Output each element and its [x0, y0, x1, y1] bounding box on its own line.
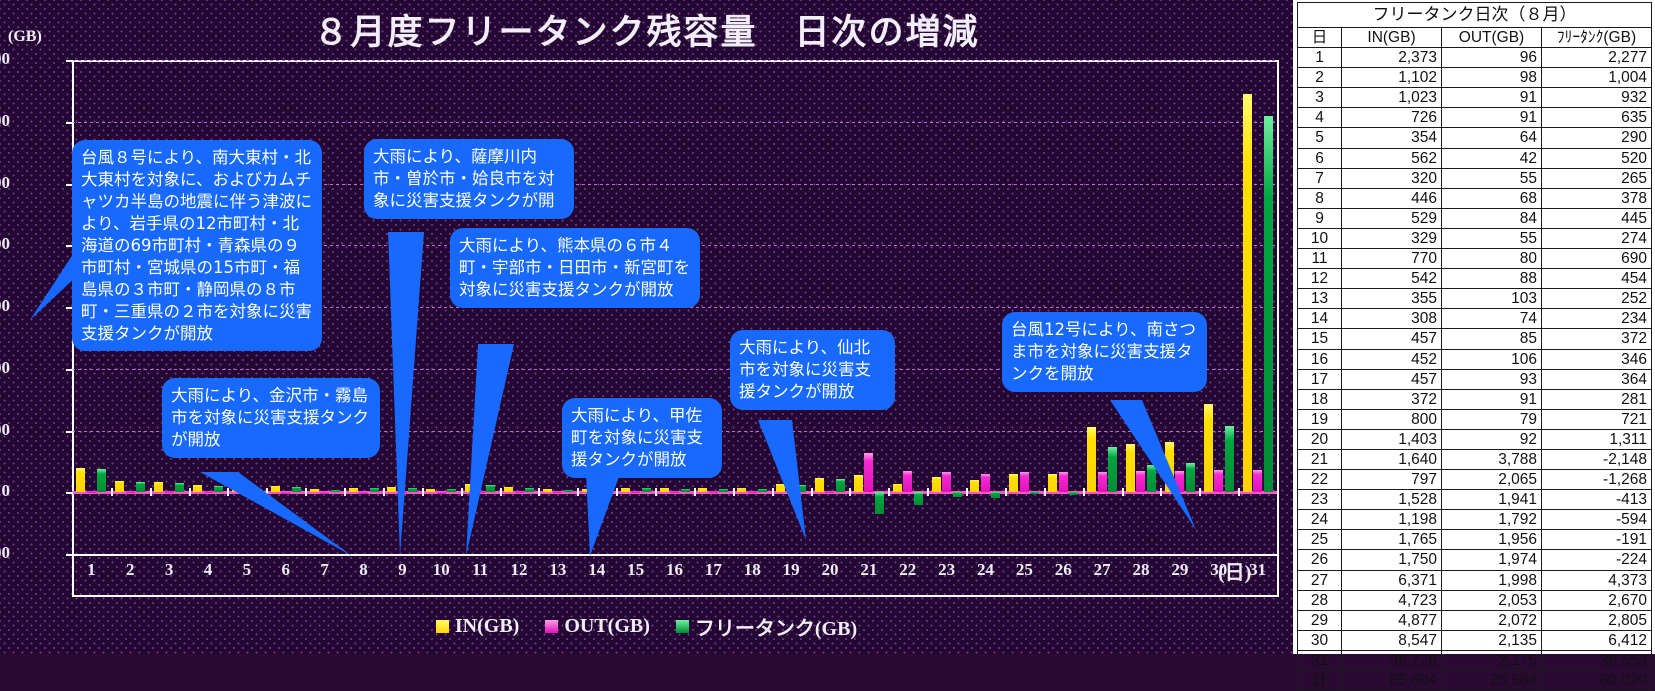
cell-out: 103 — [1442, 289, 1542, 309]
cell-in: 2,373 — [1342, 48, 1442, 68]
cell-day: 14 — [1298, 309, 1342, 329]
cell-out: 91 — [1442, 108, 1542, 128]
table-header-0: 日 — [1298, 28, 1342, 48]
cell-day: 3 — [1298, 88, 1342, 108]
cell-day: 9 — [1298, 208, 1342, 228]
callout-c3[interactable]: 大雨により、薩摩川内市・曽於市・姶良市を対象に災害支援タンクが開 — [364, 139, 574, 219]
cell-out: 85 — [1442, 329, 1542, 349]
cell-day: 16 — [1298, 349, 1342, 369]
cell-out: 84 — [1442, 208, 1542, 228]
cell-in: 6,371 — [1342, 570, 1442, 590]
cell-in: 320 — [1342, 168, 1442, 188]
cell-freetank: -1,268 — [1542, 470, 1652, 490]
table-row: 3138,7282,17536,553 — [1298, 650, 1652, 670]
cell-day: 10 — [1298, 228, 1342, 248]
cell-in: 797 — [1342, 470, 1442, 490]
cell-out: 106 — [1442, 349, 1542, 369]
cell-freetank: -413 — [1542, 490, 1652, 510]
callout-c4[interactable]: 大雨により、熊本県の６市４町・宇部市・日田市・新宮町を対象に災害支援タンクが開放 — [450, 228, 700, 308]
cell-day: 25 — [1298, 530, 1342, 550]
cell-day: 20 — [1298, 429, 1342, 449]
callout-c6[interactable]: 大雨により、仙北市を対象に災害支援タンクが開放 — [730, 330, 895, 410]
callout-tail-c5 — [586, 474, 620, 556]
cell-day: 31 — [1298, 650, 1342, 670]
cell-day: 11 — [1298, 249, 1342, 269]
table-row: 261,7501,974-224 — [1298, 550, 1652, 570]
cell-out: 1,792 — [1442, 510, 1542, 530]
table-row: 16452106346 — [1298, 349, 1652, 369]
cell-in: 457 — [1342, 369, 1442, 389]
cell-day: 15 — [1298, 329, 1342, 349]
cell-day: 13 — [1298, 289, 1342, 309]
table-row: 241,1981,792-594 — [1298, 510, 1652, 530]
table-row: 13355103252 — [1298, 289, 1652, 309]
cell-freetank: 2,670 — [1542, 590, 1652, 610]
cell-in: 562 — [1342, 148, 1442, 168]
callout-c2[interactable]: 大雨により、金沢市・霧島市を対象に災害支援タンクが開放 — [162, 378, 380, 458]
table-row: 656242520 — [1298, 148, 1652, 168]
cell-in: 355 — [1342, 289, 1442, 309]
cell-day: 30 — [1298, 630, 1342, 650]
cell-out: 68 — [1442, 188, 1542, 208]
cell-out: 42 — [1442, 148, 1542, 168]
table-row: 211,6403,788-2,148 — [1298, 449, 1652, 469]
data-table-panel: フリータンク日次（８月） 日IN(GB)OUT(GB)ﾌﾘｰﾀﾝｸ(GB) 12… — [1293, 0, 1655, 654]
cell-in: 457 — [1342, 329, 1442, 349]
cell-freetank: 36,553 — [1542, 650, 1652, 670]
cell-freetank: 4,373 — [1542, 570, 1652, 590]
cell-in: 85,604 — [1342, 671, 1442, 691]
cell-day: 5 — [1298, 128, 1342, 148]
cell-out: 91 — [1442, 88, 1542, 108]
callout-tail-c4 — [466, 344, 514, 556]
cell-in: 372 — [1342, 389, 1442, 409]
table-row: 251,7651,956-191 — [1298, 530, 1652, 550]
cell-out: 1,998 — [1442, 570, 1542, 590]
cell-day: 18 — [1298, 389, 1342, 409]
table-caption: フリータンク日次（８月） — [1298, 3, 1652, 28]
table-row: 284,7232,0532,670 — [1298, 590, 1652, 610]
cell-day: 23 — [1298, 490, 1342, 510]
cell-in: 8,547 — [1342, 630, 1442, 650]
cell-in: 1,198 — [1342, 510, 1442, 530]
table-row: 1032955274 — [1298, 228, 1652, 248]
cell-day: 6 — [1298, 148, 1342, 168]
cell-day: 7 — [1298, 168, 1342, 188]
cell-out: 2,135 — [1442, 630, 1542, 650]
cell-day: 26 — [1298, 550, 1342, 570]
cell-in: 452 — [1342, 349, 1442, 369]
cell-out: 2,072 — [1442, 610, 1542, 630]
cell-out: 64 — [1442, 128, 1542, 148]
cell-out: 2,053 — [1442, 590, 1542, 610]
cell-freetank: 721 — [1542, 409, 1652, 429]
cell-in: 446 — [1342, 188, 1442, 208]
table-row: 1745793364 — [1298, 369, 1652, 389]
callout-tail-c7 — [1110, 400, 1196, 530]
chart-panel: ８月度フリータンク残容量 日次の増減 (GB) 42,00036,00030,0… — [0, 0, 1293, 654]
cell-day: 1 — [1298, 48, 1342, 68]
cell-freetank: 690 — [1542, 249, 1652, 269]
callout-tail-c6 — [758, 420, 806, 540]
table-body: 12,373962,27721,102981,00431,02391932472… — [1298, 48, 1652, 691]
cell-freetank: 252 — [1542, 289, 1652, 309]
cell-day: 27 — [1298, 570, 1342, 590]
cell-freetank: 635 — [1542, 108, 1652, 128]
cell-freetank: 445 — [1542, 208, 1652, 228]
table-row: 1430874234 — [1298, 309, 1652, 329]
cell-day: 28 — [1298, 590, 1342, 610]
cell-out: 55 — [1442, 228, 1542, 248]
table-row: 計85,60425,58460,020 — [1298, 671, 1652, 691]
cell-freetank: -2,148 — [1542, 449, 1652, 469]
cell-day: 12 — [1298, 269, 1342, 289]
callout-c5[interactable]: 大雨により、甲佐町を対象に災害支援タンクが開放 — [562, 398, 722, 478]
table-header-1: IN(GB) — [1342, 28, 1442, 48]
cell-out: 3,788 — [1442, 449, 1542, 469]
cell-out: 80 — [1442, 249, 1542, 269]
callout-tail-c2 — [200, 472, 352, 556]
table-row: 535464290 — [1298, 128, 1652, 148]
cell-out: 25,584 — [1442, 671, 1542, 691]
cell-out: 55 — [1442, 168, 1542, 188]
cell-freetank: 2,805 — [1542, 610, 1652, 630]
cell-day: 4 — [1298, 108, 1342, 128]
table-row: 1837291281 — [1298, 389, 1652, 409]
cell-in: 4,723 — [1342, 590, 1442, 610]
cell-freetank: 274 — [1542, 228, 1652, 248]
table-row: 31,02391932 — [1298, 88, 1652, 108]
table-row: 308,5472,1356,412 — [1298, 630, 1652, 650]
cell-out: 74 — [1442, 309, 1542, 329]
table-row: 201,403921,311 — [1298, 429, 1652, 449]
freetank-daily-table: フリータンク日次（８月） 日IN(GB)OUT(GB)ﾌﾘｰﾀﾝｸ(GB) 12… — [1297, 2, 1652, 691]
cell-day: 24 — [1298, 510, 1342, 530]
table-row: 231,5281,941-413 — [1298, 490, 1652, 510]
table-header-3: ﾌﾘｰﾀﾝｸ(GB) — [1542, 28, 1652, 48]
table-row: 844668378 — [1298, 188, 1652, 208]
cell-in: 4,877 — [1342, 610, 1442, 630]
cell-out: 96 — [1442, 48, 1542, 68]
cell-out: 2,175 — [1442, 650, 1542, 670]
cell-in: 1,528 — [1342, 490, 1442, 510]
cell-day: 29 — [1298, 610, 1342, 630]
cell-freetank: 1,004 — [1542, 68, 1652, 88]
table-row: 1254288454 — [1298, 269, 1652, 289]
cell-freetank: 364 — [1542, 369, 1652, 389]
cell-in: 726 — [1342, 108, 1442, 128]
cell-in: 1,102 — [1342, 68, 1442, 88]
cell-freetank: 290 — [1542, 128, 1652, 148]
cell-freetank: 932 — [1542, 88, 1652, 108]
cell-in: 529 — [1342, 208, 1442, 228]
cell-in: 1,750 — [1342, 550, 1442, 570]
cell-out: 98 — [1442, 68, 1542, 88]
table-row: 276,3711,9984,373 — [1298, 570, 1652, 590]
table-row: 952984445 — [1298, 208, 1652, 228]
table-row: 1177080690 — [1298, 249, 1652, 269]
cell-in: 800 — [1342, 409, 1442, 429]
table-header-row: 日IN(GB)OUT(GB)ﾌﾘｰﾀﾝｸ(GB) — [1298, 28, 1652, 48]
callout-c1[interactable]: 台風８号により、南大東村・北大東村を対象に、およびカムチャツカ半島の地震に伴う津… — [72, 140, 322, 351]
cell-day: 計 — [1298, 671, 1342, 691]
table-row: 472691635 — [1298, 108, 1652, 128]
cell-freetank: 60,020 — [1542, 671, 1652, 691]
cell-freetank: 372 — [1542, 329, 1652, 349]
cell-in: 354 — [1342, 128, 1442, 148]
callout-tail-c3 — [388, 232, 424, 556]
cell-freetank: 6,412 — [1542, 630, 1652, 650]
cell-day: 22 — [1298, 470, 1342, 490]
cell-day: 2 — [1298, 68, 1342, 88]
cell-day: 19 — [1298, 409, 1342, 429]
cell-in: 1,640 — [1342, 449, 1442, 469]
cell-out: 91 — [1442, 389, 1542, 409]
table-row: 1545785372 — [1298, 329, 1652, 349]
cell-freetank: -191 — [1542, 530, 1652, 550]
cell-in: 542 — [1342, 269, 1442, 289]
cell-out: 79 — [1442, 409, 1542, 429]
cell-out: 88 — [1442, 269, 1542, 289]
cell-freetank: 234 — [1542, 309, 1652, 329]
cell-freetank: 2,277 — [1542, 48, 1652, 68]
cell-freetank: -594 — [1542, 510, 1652, 530]
table-row: 227972,065-1,268 — [1298, 470, 1652, 490]
cell-freetank: 281 — [1542, 389, 1652, 409]
cell-freetank: 454 — [1542, 269, 1652, 289]
cell-out: 93 — [1442, 369, 1542, 389]
cell-in: 329 — [1342, 228, 1442, 248]
cell-day: 21 — [1298, 449, 1342, 469]
cell-day: 17 — [1298, 369, 1342, 389]
table-row: 294,8772,0722,805 — [1298, 610, 1652, 630]
table-row: 12,373962,277 — [1298, 48, 1652, 68]
cell-in: 308 — [1342, 309, 1442, 329]
freetank-dashboard: ８月度フリータンク残容量 日次の増減 (GB) 42,00036,00030,0… — [0, 0, 1655, 654]
table-row: 1980079721 — [1298, 409, 1652, 429]
cell-out: 92 — [1442, 429, 1542, 449]
cell-in: 1,765 — [1342, 530, 1442, 550]
cell-freetank: -224 — [1542, 550, 1652, 570]
cell-freetank: 378 — [1542, 188, 1652, 208]
table-row: 732055265 — [1298, 168, 1652, 188]
cell-out: 1,956 — [1442, 530, 1542, 550]
cell-in: 770 — [1342, 249, 1442, 269]
cell-freetank: 1,311 — [1542, 429, 1652, 449]
callout-c7[interactable]: 台風12号により、南さつま市を対象に災害支援タンクを開放 — [1002, 312, 1207, 392]
cell-freetank: 346 — [1542, 349, 1652, 369]
cell-in: 1,023 — [1342, 88, 1442, 108]
cell-in: 1,403 — [1342, 429, 1442, 449]
cell-freetank: 520 — [1542, 148, 1652, 168]
cell-out: 2,065 — [1442, 470, 1542, 490]
cell-out: 1,941 — [1442, 490, 1542, 510]
cell-in: 38,728 — [1342, 650, 1442, 670]
table-row: 21,102981,004 — [1298, 68, 1652, 88]
cell-out: 1,974 — [1442, 550, 1542, 570]
table-header-2: OUT(GB) — [1442, 28, 1542, 48]
cell-freetank: 265 — [1542, 168, 1652, 188]
cell-day: 8 — [1298, 188, 1342, 208]
